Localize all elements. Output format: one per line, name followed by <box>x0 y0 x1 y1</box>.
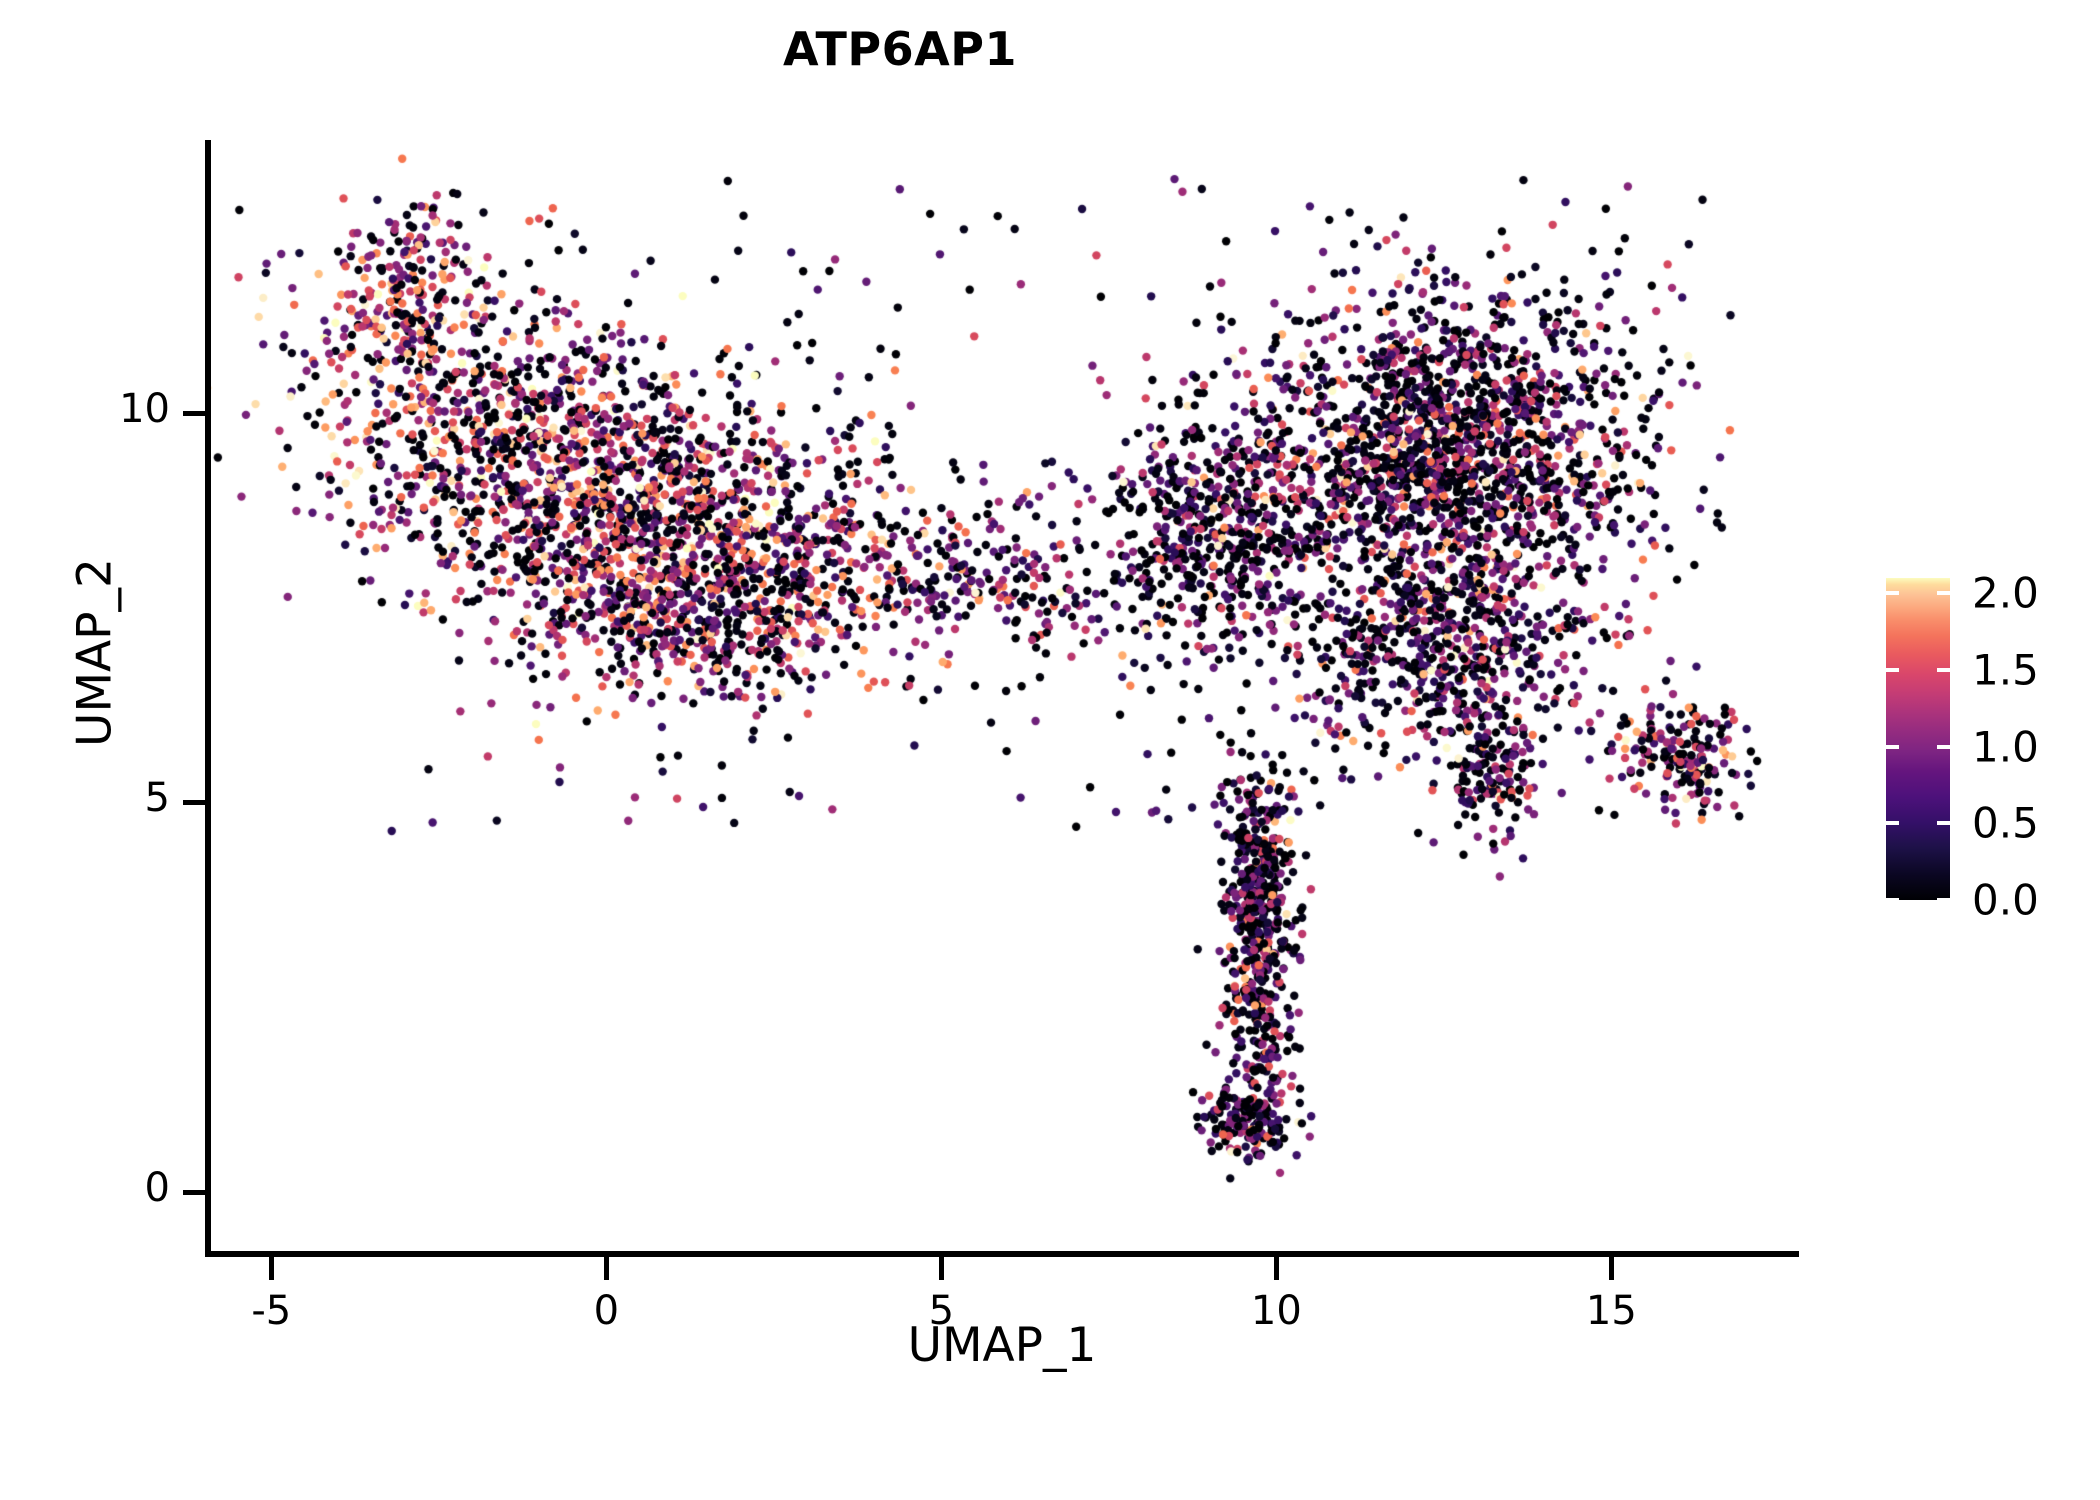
colorbar-tick-mark <box>1937 668 1950 672</box>
x-axis-title: UMAP_1 <box>205 1318 1799 1373</box>
x-axis-spine <box>205 1251 1799 1257</box>
colorbar-tick-mark <box>1886 591 1899 595</box>
y-tick-mark <box>183 411 207 416</box>
x-tick-mark <box>269 1256 274 1280</box>
colorbar-tick-mark <box>1937 745 1950 749</box>
y-axis-spine <box>205 140 211 1257</box>
colorbar-tick-label: 0.5 <box>1972 799 2039 848</box>
x-tick-mark <box>1609 1256 1614 1280</box>
colorbar-tick-label: 0.0 <box>1972 876 2039 925</box>
colorbar-tick-label: 2.0 <box>1972 569 2039 618</box>
x-tick-mark <box>1274 1256 1279 1280</box>
chart-figure: ATP6AP1 0510 -5051015 UMAP_1 UMAP_2 0.00… <box>0 0 2100 1500</box>
colorbar-legend: 0.00.51.01.52.0 <box>1886 578 1950 900</box>
colorbar-tick-mark <box>1886 668 1899 672</box>
colorbar-tick-mark <box>1937 821 1950 825</box>
x-tick-mark <box>604 1256 609 1280</box>
colorbar-tick-label: 1.5 <box>1972 646 2039 695</box>
scatter-points-canvas <box>211 140 1799 1254</box>
colorbar-tick-mark <box>1937 898 1950 902</box>
colorbar-tick-label: 1.0 <box>1972 722 2039 771</box>
colorbar-gradient <box>1886 578 1950 900</box>
x-tick-mark <box>939 1256 944 1280</box>
chart-title: ATP6AP1 <box>0 22 1800 76</box>
y-tick-label: 0 <box>60 1165 170 1211</box>
colorbar-tick-mark <box>1937 591 1950 595</box>
colorbar-tick-mark <box>1886 898 1899 902</box>
colorbar-tick-mark <box>1886 821 1899 825</box>
colorbar-tick-mark <box>1886 745 1899 749</box>
y-axis-title: UMAP_2 <box>68 273 123 1033</box>
y-tick-mark <box>183 1190 207 1195</box>
y-tick-mark <box>183 800 207 805</box>
scatter-plot-area <box>211 140 1799 1254</box>
